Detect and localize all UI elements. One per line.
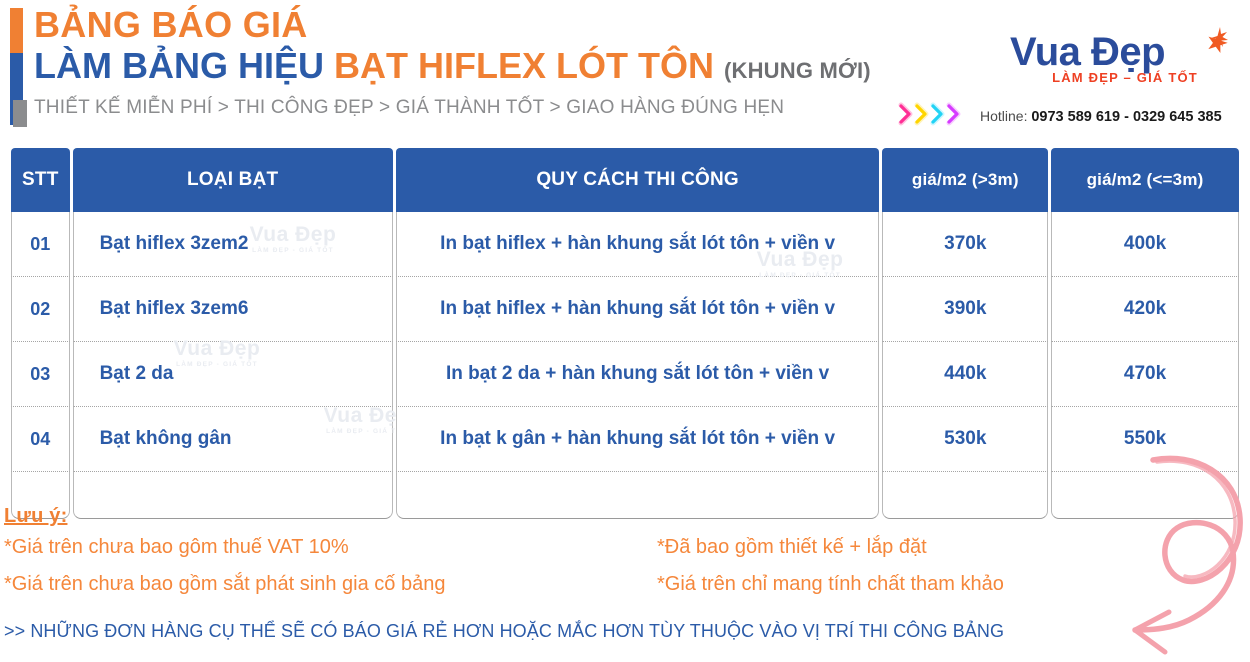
- hotline-label: Hotline:: [980, 108, 1027, 124]
- cell-gia-duoi-3m: 470k: [1051, 342, 1239, 407]
- chevron-right-icon: [930, 102, 943, 126]
- cell-quy-cach: In bạt 2 da + hàn khung sắt lót tôn + vi…: [396, 342, 880, 407]
- table-row: 04 Bạt không gân Vua Đẹp LÀM ĐẸP - GIÁ T…: [11, 407, 1239, 472]
- chevron-right-icon: [946, 102, 959, 126]
- accent-bars: [10, 8, 30, 133]
- note-row: *Giá trên chưa bao gôm thuế VAT 10% *Đã …: [4, 536, 1246, 567]
- page-header: BẢNG BÁO GIÁ LÀM BẢNG HIỆU BẠT HIFLEX LÓ…: [0, 0, 1250, 140]
- cell-loai-bat: Bạt 2 da Vua Đẹp LÀM ĐẸP - GIÁ TỐT: [73, 342, 393, 407]
- note-row: *Giá trên chưa bao gồm sắt phát sinh gia…: [4, 567, 1246, 603]
- table-header-row: STT LOẠI BẠT QUY CÁCH THI CÔNG giá/m2 (>…: [11, 148, 1239, 212]
- notes-heading: Lưu ý:: [4, 505, 67, 527]
- table-row: 03 Bạt 2 da Vua Đẹp LÀM ĐẸP - GIÁ TỐT In…: [11, 342, 1239, 407]
- chevron-arrows-group: [898, 100, 970, 128]
- column-header-loai-bat: LOẠI BẠT: [73, 148, 393, 212]
- footer-note: >> NHỮNG ĐƠN HÀNG CỤ THỂ SẼ CÓ BÁO GIÁ R…: [4, 621, 1004, 642]
- cell-quy-cach: In bạt k gân + hàn khung sắt lót tôn + v…: [396, 407, 880, 472]
- note-left-2: *Giá trên chưa bao gồm sắt phát sinh gia…: [4, 573, 445, 596]
- watermark: Vua Đẹp LÀM ĐẸP - GIÁ TỐT: [250, 224, 337, 255]
- accent-bar-gray: [13, 100, 27, 127]
- hotline-number: 0973 589 619 - 0329 645 385: [1031, 109, 1221, 125]
- watermark: Vua Đẹp LÀM ĐẸP - GIÁ TỐT: [174, 338, 261, 369]
- cell-quy-cach: In bạt hiflex + hàn khung sắt lót tôn + …: [396, 212, 880, 277]
- cell-loai-bat: Bạt không gân Vua Đẹp LÀM ĐẸP - GIÁ TỐT: [73, 407, 393, 472]
- note-row: Lưu ý:: [4, 505, 1246, 536]
- price-table-wrapper: STT LOẠI BẠT QUY CÁCH THI CÔNG giá/m2 (>…: [8, 148, 1242, 519]
- cell-quy-cach-text: In bạt hiflex + hàn khung sắt lót tôn + …: [440, 298, 835, 319]
- cell-stt: 03: [11, 342, 70, 407]
- cell-gia-duoi-3m: 550k: [1051, 407, 1239, 472]
- cell-loai-bat: Bạt hiflex 3zem6: [73, 277, 393, 342]
- cell-quy-cach: In bạt hiflex + hàn khung sắt lót tôn + …: [396, 277, 880, 342]
- star-icon: [1200, 26, 1234, 65]
- brand-logo: Vua Đẹp LÀM ĐẸP – GIÁ TỐT: [1010, 30, 1240, 102]
- title-block: BẢNG BÁO GIÁ LÀM BẢNG HIỆU BẠT HIFLEX LÓ…: [34, 4, 871, 119]
- cell-loai-bat-text: Bạt không gân: [100, 428, 232, 449]
- hotline: Hotline: 0973 589 619 - 0329 645 385: [980, 108, 1222, 125]
- column-header-gia-duoi-3m: giá/m2 (<=3m): [1051, 148, 1239, 212]
- note-right-1: *Đã bao gồm thiết kế + lắp đặt: [657, 536, 927, 559]
- column-header-gia-tren-3m: giá/m2 (>3m): [882, 148, 1048, 212]
- table-row: 01 Bạt hiflex 3zem2 Vua Đẹp LÀM ĐẸP - GI…: [11, 212, 1239, 277]
- page-subtitle: THIẾT KẾ MIỄN PHÍ > THI CÔNG ĐẸP > GIÁ T…: [34, 97, 871, 119]
- cell-stt: 02: [11, 277, 70, 342]
- cell-loai-bat: Bạt hiflex 3zem2 Vua Đẹp LÀM ĐẸP - GIÁ T…: [73, 212, 393, 277]
- accent-bar-orange: [10, 8, 23, 53]
- price-table-body: 01 Bạt hiflex 3zem2 Vua Đẹp LÀM ĐẸP - GI…: [11, 212, 1239, 519]
- table-row: 02 Bạt hiflex 3zem6 In bạt hiflex + hàn …: [11, 277, 1239, 342]
- cell-loai-bat-text: Bạt 2 da: [100, 363, 174, 384]
- price-table: STT LOẠI BẠT QUY CÁCH THI CÔNG giá/m2 (>…: [8, 148, 1242, 519]
- cell-stt: 01: [11, 212, 70, 277]
- cell-gia-duoi-3m: 400k: [1051, 212, 1239, 277]
- cell-gia-tren-3m: 530k: [882, 407, 1048, 472]
- price-table-header: STT LOẠI BẠT QUY CÁCH THI CÔNG giá/m2 (>…: [11, 148, 1239, 212]
- cell-gia-tren-3m: 390k: [882, 277, 1048, 342]
- note-right-2: *Giá trên chỉ mang tính chất tham khảo: [657, 573, 1004, 596]
- title-segment-blue: LÀM BẢNG HIỆU: [34, 45, 334, 86]
- note-left-1: *Giá trên chưa bao gôm thuế VAT 10%: [4, 536, 349, 559]
- notes-section: Lưu ý: *Giá trên chưa bao gôm thuế VAT 1…: [4, 505, 1246, 603]
- title-segment-note: (KHUNG MỚI): [724, 58, 871, 83]
- page-title-secondary: LÀM BẢNG HIỆU BẠT HIFLEX LÓT TÔN (KHUNG …: [34, 44, 871, 93]
- column-header-quy-cach: QUY CÁCH THI CÔNG: [396, 148, 880, 212]
- cell-gia-tren-3m: 440k: [882, 342, 1048, 407]
- cell-loai-bat-text: Bạt hiflex 3zem2: [100, 233, 249, 254]
- page-title-primary: BẢNG BÁO GIÁ: [34, 4, 871, 46]
- cell-gia-duoi-3m: 420k: [1051, 277, 1239, 342]
- chevron-right-icon: [898, 102, 911, 126]
- cell-stt: 04: [11, 407, 70, 472]
- column-header-stt: STT: [11, 148, 70, 212]
- cell-gia-tren-3m: 370k: [882, 212, 1048, 277]
- chevron-right-icon: [914, 102, 927, 126]
- title-segment-orange: BẠT HIFLEX LÓT TÔN: [334, 45, 714, 86]
